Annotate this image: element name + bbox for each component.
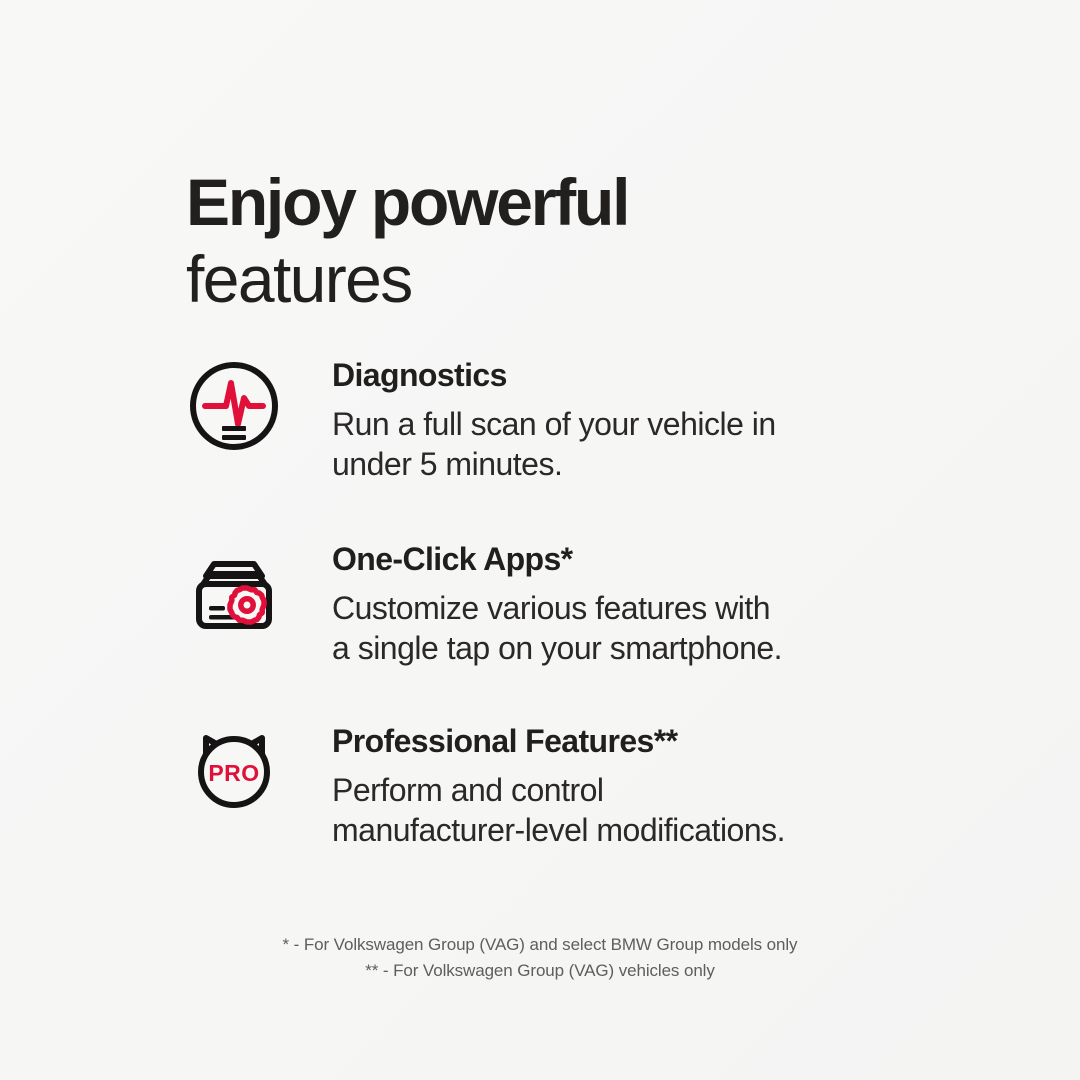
pro-badge-label: PRO: [208, 760, 259, 786]
feature-list: Diagnostics Run a full scan of your vehi…: [186, 356, 986, 872]
feature-item-one-click-apps: One-Click Apps* Customize various featur…: [186, 540, 986, 690]
feature-title-professional-features: Professional Features**: [332, 722, 986, 760]
feature-item-professional-features: PRO Professional Features** Perform and …: [186, 722, 986, 872]
one-click-apps-device-gear-icon: [186, 544, 282, 640]
feature-title-diagnostics: Diagnostics: [332, 356, 986, 394]
diagnostics-pulse-icon: [186, 358, 282, 454]
page-title: Enjoy powerful features: [186, 164, 946, 318]
feature-item-diagnostics: Diagnostics Run a full scan of your vehi…: [186, 356, 986, 506]
footnote-group: * - For Volkswagen Group (VAG) and selec…: [0, 932, 1080, 984]
feature-desc-professional-features: Perform and control manufacturer-level m…: [332, 770, 986, 850]
professional-features-pro-badge-icon: PRO: [186, 722, 282, 818]
footnote-single-asterisk: * - For Volkswagen Group (VAG) and selec…: [0, 932, 1080, 958]
feature-desc-diagnostics: Run a full scan of your vehicle in under…: [332, 404, 986, 484]
headline-line-2: features: [186, 240, 946, 318]
feature-desc-one-click-apps: Customize various features with a single…: [332, 588, 986, 668]
footnote-double-asterisk: ** - For Volkswagen Group (VAG) vehicles…: [0, 958, 1080, 984]
feature-title-one-click-apps: One-Click Apps*: [332, 540, 986, 578]
feature-desc-line: Customize various features with: [332, 588, 986, 628]
feature-desc-line: a single tap on your smartphone.: [332, 628, 986, 668]
promo-card: Enjoy powerful features Diagnostics Run …: [0, 0, 1080, 1080]
feature-desc-line: manufacturer-level modifications.: [332, 810, 986, 850]
feature-desc-line: under 5 minutes.: [332, 444, 986, 484]
feature-desc-line: Perform and control: [332, 770, 986, 810]
feature-desc-line: Run a full scan of your vehicle in: [332, 404, 986, 444]
headline-line-1: Enjoy powerful: [186, 164, 946, 240]
